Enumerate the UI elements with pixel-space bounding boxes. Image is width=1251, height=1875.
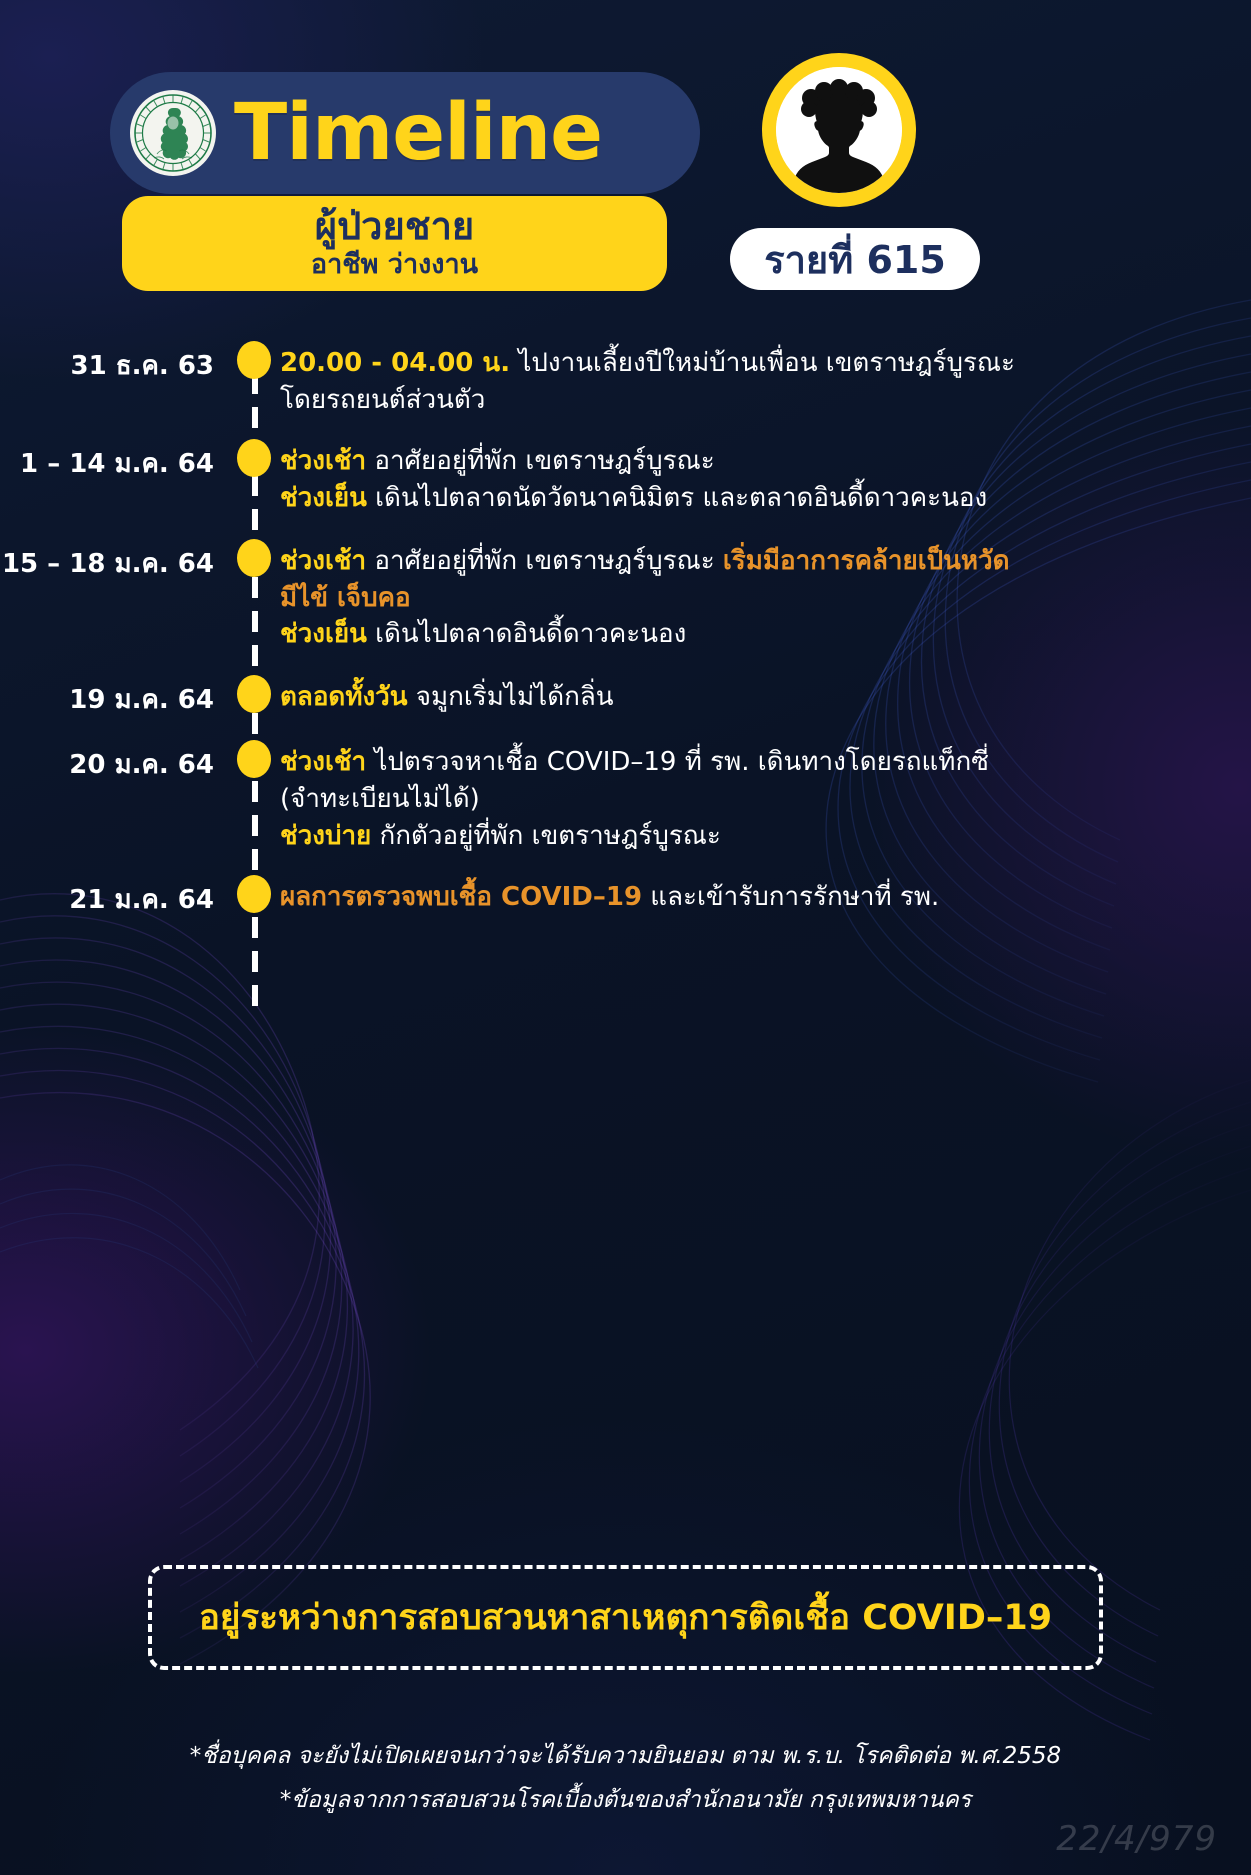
time-of-day-label: ช่วงเช้า xyxy=(280,546,366,576)
symptom-text: ผลการตรวจพบเชื้อ COVID–19 xyxy=(280,882,642,912)
activity-text: ไปงานเลี้ยงปีใหม่บ้านเพื่อน เขตราษฎร์บูร… xyxy=(510,348,1015,378)
activity-text: และเข้ารับการรักษาที่ รพ. xyxy=(642,882,939,912)
symptom-text: มีไข้ เจ็บคอ xyxy=(280,583,411,613)
bangkok-metropolitan-seal-icon xyxy=(130,90,216,176)
header: Timeline ผู้ป่วยชาย อาชีพ ว่างงาน xyxy=(0,0,1251,320)
avatar xyxy=(762,53,916,207)
timeline-entry-line: ช่วงเช้า อาศัยอยู่ที่พัก เขตราษฎร์บูรณะ … xyxy=(280,543,1211,580)
timeline-dot-cell xyxy=(228,679,280,713)
timeline-row: 1 – 14 ม.ค. 64ช่วงเช้า อาศัยอยู่ที่พัก เ… xyxy=(0,443,1251,517)
disclaimer-note-1: *ชื่อบุคคล จะยังไม่เปิดเผยจนกว่าจะได้รับ… xyxy=(0,1735,1251,1779)
timeline-entry-body: ตลอดทั้งวัน จมูกเริ่มไม่ได้กลิ่น xyxy=(280,679,1251,716)
page-title: Timeline xyxy=(234,94,602,172)
timeline-row: 20 ม.ค. 64ช่วงเช้า ไปตรวจหาเชื้อ COVID–1… xyxy=(0,744,1251,855)
timeline-dot-cell xyxy=(228,543,280,577)
timeline-dot-cell xyxy=(228,879,280,913)
infographic-page: Timeline ผู้ป่วยชาย อาชีพ ว่างงาน xyxy=(0,0,1251,1875)
timeline-entry-line: ช่วงเช้า ไปตรวจหาเชื้อ COVID–19 ที่ รพ. … xyxy=(280,744,1211,781)
activity-text: อาศัยอยู่ที่พัก เขตราษฎร์บูรณะ xyxy=(366,546,723,576)
activity-text: ไปตรวจหาเชื้อ COVID–19 ที่ รพ. เดินทางโด… xyxy=(366,747,989,777)
watermark: 22/4/979 xyxy=(1056,1819,1217,1859)
timeline-row: 31 ธ.ค. 6320.00 - 04.00 น. ไปงานเลี้ยงปี… xyxy=(0,345,1251,419)
patient-gender-label: ผู้ป่วยชาย xyxy=(315,207,474,247)
activity-text: กักตัวอยู่ที่พัก เขตราษฎร์บูรณะ xyxy=(371,821,721,851)
timeline-row: 21 ม.ค. 64ผลการตรวจพบเชื้อ COVID–19 และเ… xyxy=(0,879,1251,920)
timeline-dot-icon xyxy=(237,341,271,379)
timeline-entry-body: ช่วงเช้า ไปตรวจหาเชื้อ COVID–19 ที่ รพ. … xyxy=(280,744,1251,855)
disclaimer-note-2: *ข้อมูลจากการสอบสวนโรคเบื้องต้นของสำนักอ… xyxy=(0,1779,1251,1823)
time-of-day-label: ช่วงเช้า xyxy=(280,747,366,777)
activity-text: เดินไปตลาดนัดวัดนาคนิมิตร และตลาดอินดี้ด… xyxy=(367,483,987,513)
patient-silhouette-icon xyxy=(776,67,902,193)
symptom-text: เริ่มมีอาการคล้ายเป็นหวัด xyxy=(723,546,1010,576)
timeline-dot-icon xyxy=(237,875,271,913)
timeline-date: 31 ธ.ค. 63 xyxy=(0,345,228,386)
timeline-entry-line: โดยรถยนต์ส่วนตัว xyxy=(280,382,1211,419)
timeline-row: 15 – 18 ม.ค. 64ช่วงเช้า อาศัยอยู่ที่พัก … xyxy=(0,543,1251,654)
timeline-entry-body: ช่วงเช้า อาศัยอยู่ที่พัก เขตราษฎร์บูรณะช… xyxy=(280,443,1251,517)
time-of-day-label: ช่วงเย็น xyxy=(280,483,367,513)
timeline-dot-icon xyxy=(237,740,271,778)
timeline-entry-line: ช่วงเย็น เดินไปตลาดนัดวัดนาคนิมิตร และตล… xyxy=(280,480,1211,517)
timeline-dot-cell xyxy=(228,744,280,778)
activity-text: อาศัยอยู่ที่พัก เขตราษฎร์บูรณะ xyxy=(366,446,715,476)
timeline-entry-line: ผลการตรวจพบเชื้อ COVID–19 และเข้ารับการร… xyxy=(280,879,1211,916)
time-of-day-label: ช่วงบ่าย xyxy=(280,821,371,851)
timeline-entry-line: ตลอดทั้งวัน จมูกเริ่มไม่ได้กลิ่น xyxy=(280,679,1211,716)
activity-text: จมูกเริ่มไม่ได้กลิ่น xyxy=(408,682,614,712)
timeline-dot-icon xyxy=(237,675,271,713)
investigation-status-box: อยู่ระหว่างการสอบสวนหาสาเหตุการติดเชื้อ … xyxy=(148,1565,1103,1670)
patient-occupation-label: อาชีพ ว่างงาน xyxy=(311,249,478,280)
timeline-entry-line: 20.00 - 04.00 น. ไปงานเลี้ยงปีใหม่บ้านเพ… xyxy=(280,345,1211,382)
timeline-entry-line: ช่วงเย็น เดินไปตลาดอินดี้ดาวคะนอง xyxy=(280,616,1211,653)
timeline-entry-body: ช่วงเช้า อาศัยอยู่ที่พัก เขตราษฎร์บูรณะ … xyxy=(280,543,1251,654)
timeline-entry-line: ช่วงเช้า อาศัยอยู่ที่พัก เขตราษฎร์บูรณะ xyxy=(280,443,1211,480)
patient-subtitle-pill: ผู้ป่วยชาย อาชีพ ว่างงาน xyxy=(122,196,667,291)
timeline-row: 19 ม.ค. 64ตลอดทั้งวัน จมูกเริ่มไม่ได้กลิ… xyxy=(0,679,1251,720)
timeline: 31 ธ.ค. 6320.00 - 04.00 น. ไปงานเลี้ยงปี… xyxy=(0,345,1251,920)
time-of-day-label: ช่วงเย็น xyxy=(280,619,367,649)
time-of-day-label: 20.00 - 04.00 น. xyxy=(280,348,510,378)
timeline-date: 1 – 14 ม.ค. 64 xyxy=(0,443,228,484)
timeline-date: 15 – 18 ม.ค. 64 xyxy=(0,543,228,584)
timeline-dot-cell xyxy=(228,345,280,379)
time-of-day-label: ช่วงเช้า xyxy=(280,446,366,476)
timeline-entry-line: (จำทะเบียนไม่ได้) xyxy=(280,781,1211,818)
activity-text: โดยรถยนต์ส่วนตัว xyxy=(280,385,485,415)
activity-text: (จำทะเบียนไม่ได้) xyxy=(280,784,480,814)
timeline-dot-icon xyxy=(237,539,271,577)
disclaimer-notes: *ชื่อบุคคล จะยังไม่เปิดเผยจนกว่าจะได้รับ… xyxy=(0,1735,1251,1822)
timeline-date: 21 ม.ค. 64 xyxy=(0,879,228,920)
timeline-entry-body: 20.00 - 04.00 น. ไปงานเลี้ยงปีใหม่บ้านเพ… xyxy=(280,345,1251,419)
investigation-status-text: อยู่ระหว่างการสอบสวนหาสาเหตุการติดเชื้อ … xyxy=(199,1590,1052,1645)
timeline-date: 20 ม.ค. 64 xyxy=(0,744,228,785)
timeline-entry-line: มีไข้ เจ็บคอ xyxy=(280,580,1211,617)
timeline-entry-line: ช่วงบ่าย กักตัวอยู่ที่พัก เขตราษฎร์บูรณะ xyxy=(280,818,1211,855)
timeline-dot-icon xyxy=(237,439,271,477)
title-pill: Timeline xyxy=(110,72,700,194)
time-of-day-label: ตลอดทั้งวัน xyxy=(280,682,408,712)
case-number-badge: รายที่ 615 xyxy=(730,228,980,290)
timeline-entry-body: ผลการตรวจพบเชื้อ COVID–19 และเข้ารับการร… xyxy=(280,879,1251,916)
timeline-date: 19 ม.ค. 64 xyxy=(0,679,228,720)
activity-text: เดินไปตลาดอินดี้ดาวคะนอง xyxy=(367,619,687,649)
timeline-dot-cell xyxy=(228,443,280,477)
